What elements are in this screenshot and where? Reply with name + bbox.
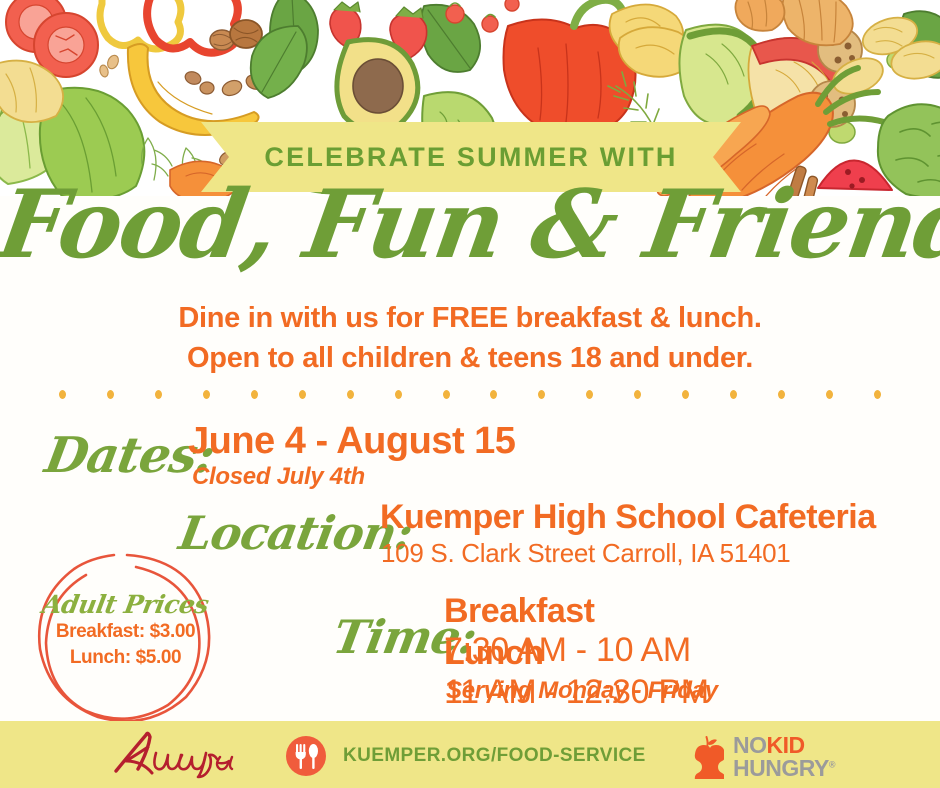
- kuemper-logo: [108, 731, 238, 779]
- nkh-registered-mark: ®: [829, 759, 835, 769]
- divider-dot: [586, 390, 593, 399]
- divider-dot: [395, 390, 402, 399]
- website-url[interactable]: KUEMPER.ORG/FOOD-SERVICE: [343, 745, 646, 767]
- url-group[interactable]: KUEMPER.ORG/FOOD-SERVICE: [285, 735, 646, 777]
- breakfast-label: Breakfast: [444, 592, 594, 630]
- apple-core-icon: [690, 735, 724, 779]
- dates-note: Closed July 4th: [192, 463, 365, 491]
- divider-dot: [299, 390, 306, 399]
- divider-dot: [682, 390, 689, 399]
- lunch-label: Lunch: [444, 634, 543, 672]
- dates-value: June 4 - August 15: [188, 420, 515, 463]
- footer-bar: KUEMPER.ORG/FOOD-SERVICE NOKID HUNGRY®: [0, 721, 940, 788]
- dotted-divider: [0, 390, 940, 402]
- divider-dot: [538, 390, 545, 399]
- divider-dot: [347, 390, 354, 399]
- divider-dot: [251, 390, 258, 399]
- intro-line-2: Open to all children & teens 18 and unde…: [0, 338, 940, 378]
- divider-dot: [203, 390, 210, 399]
- location-value: Kuemper High School Cafeteria: [380, 498, 876, 537]
- divider-dot: [490, 390, 497, 399]
- divider-dot: [107, 390, 114, 399]
- divider-dot: [59, 390, 66, 399]
- divider-dot: [155, 390, 162, 399]
- no-kid-hungry-logo: NOKID HUNGRY®: [690, 734, 835, 780]
- intro-line-1: Dine in with us for FREE breakfast & lun…: [0, 298, 940, 338]
- divider-dot: [443, 390, 450, 399]
- badge-breakfast-price: Breakfast: $3.00: [28, 619, 223, 645]
- flyer-title: Food, Fun & Friends: [0, 176, 940, 275]
- serving-days-note: Serving Monday - Friday: [446, 677, 718, 705]
- divider-dot: [874, 390, 881, 399]
- adult-prices-badge: Adult Prices Breakfast: $3.00 Lunch: $5.…: [28, 545, 223, 730]
- badge-title: Adult Prices: [25, 590, 225, 619]
- divider-dot: [730, 390, 737, 399]
- intro-block: Dine in with us for FREE breakfast & lun…: [0, 298, 940, 378]
- summer-meals-flyer: CELEBRATE SUMMER WITH Food, Fun & Friend…: [0, 0, 940, 788]
- no-kid-hungry-wordmark: NOKID HUNGRY®: [733, 734, 835, 780]
- divider-dot: [826, 390, 833, 399]
- avocado-icon: [337, 40, 418, 132]
- location-address: 109 S. Clark Street Carroll, IA 51401: [381, 538, 790, 569]
- badge-lunch-price: Lunch: $5.00: [28, 645, 223, 671]
- plate-utensils-icon: [285, 735, 327, 777]
- nkh-word-hungry: HUNGRY: [733, 755, 829, 781]
- divider-dot: [778, 390, 785, 399]
- divider-dot: [634, 390, 641, 399]
